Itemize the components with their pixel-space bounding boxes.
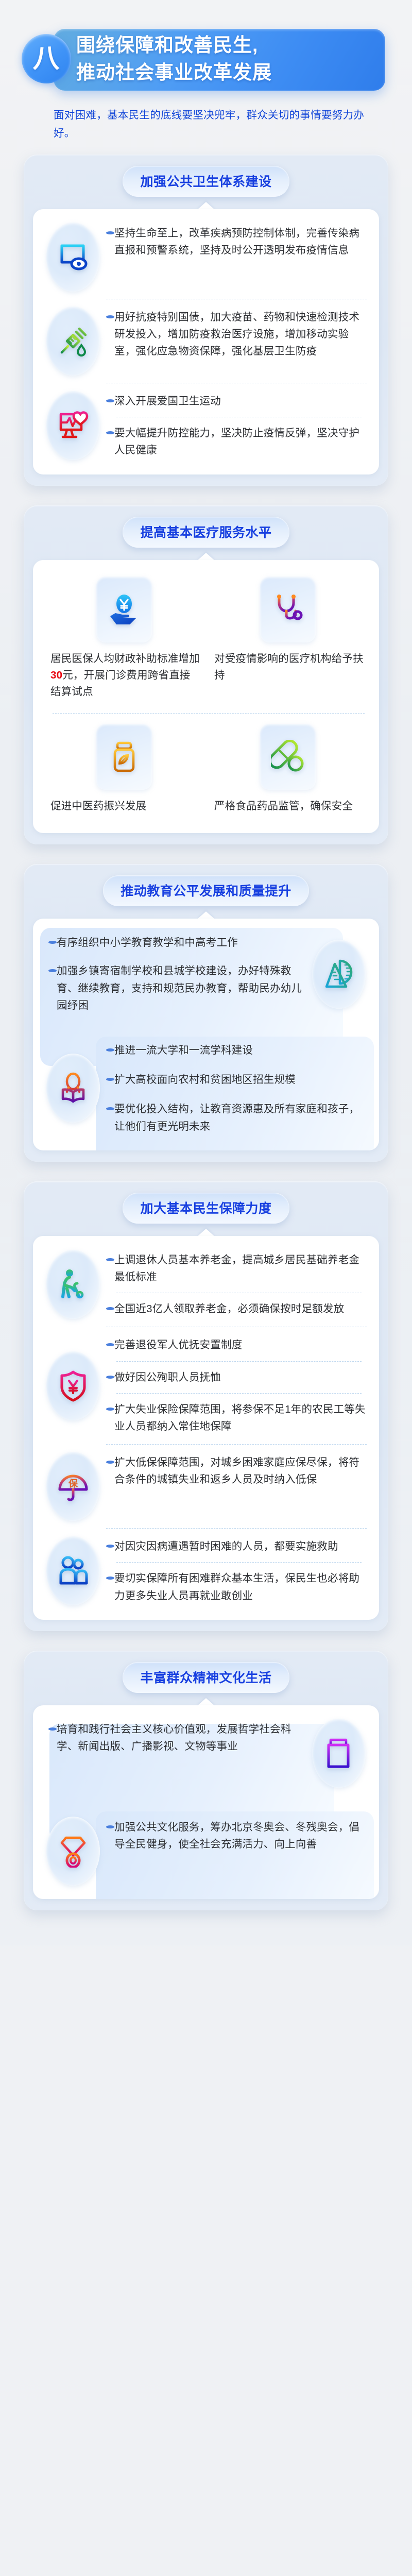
- dashed-divider: [116, 1293, 362, 1293]
- list-item-text: 全国近3亿人领取养老金，必须确保按时足额发放: [114, 1300, 367, 1317]
- row-text-slot: 用好抗疫特别国债，加大疫苗、药物和快速检测技术研发投入，增加防疫救治医疗设施，增…: [104, 307, 370, 362]
- grid-cell-caption: 严格食品药品监管，确保安全: [211, 798, 365, 815]
- bullet-dot: [106, 431, 114, 434]
- bullet-dot: [106, 1343, 114, 1346]
- caption-before: 严格食品药品监管，确保安全: [214, 800, 353, 812]
- section-body-culture: 培育和践行社会主义核心价值观，发展哲学社会科学、新闻出版、广播影视、文物等事业: [33, 1705, 379, 1899]
- bullet-dot: [48, 969, 57, 972]
- bullet-dot: [48, 1727, 57, 1731]
- page-header: 八 围绕保障和改善民生, 推动社会事业改革发展 面对困难，基本民生的底线要坚决兜…: [0, 0, 412, 155]
- bullet-dot: [106, 1825, 114, 1828]
- row-text-slot: 加强公共文化服务，筹办北京冬奥会、冬残奥会，倡导全民健身，使全社会充满活力、向上…: [104, 1817, 370, 1855]
- heart-monitor-icon: [57, 409, 90, 442]
- list-item-text: 扩大高校面向农村和贫困地区招生规模: [114, 1071, 367, 1088]
- list-item: 培育和践行社会主义核心价值观，发展哲学社会科学、新闻出版、广播影视、文物等事业: [42, 1719, 370, 1788]
- list-item-text: 完善退役军人优抚安置制度: [114, 1336, 367, 1353]
- section-body-education: 有序组织中小学教育教学和中高考工作 加强乡镇寄宿制学校和县城学校建设，办好特殊教…: [33, 919, 379, 1150]
- icon-backdrop: [312, 940, 366, 1009]
- section-body-medical-services: 居民医保人均财政补助标准增加30元，开展门诊费用跨省直接结算试点: [33, 560, 379, 834]
- section-number-text: 八: [32, 45, 60, 72]
- bullet-dot: [106, 1577, 114, 1580]
- bullet-dot: [106, 231, 114, 234]
- caption-highlight: 30: [50, 669, 62, 681]
- section-public-health: 加强公共卫生体系建设: [24, 155, 388, 486]
- section-title-education: 推动教育公平发展和质量提升: [103, 875, 309, 906]
- list-group: 完善退役军人优抚安置制度 做好因公殉职人员抚恤 扩大失业保险保障范围，将参保不足…: [42, 1334, 370, 1437]
- dashed-divider: [116, 1393, 362, 1394]
- grid-cell: 居民医保人均财政补助标准增加30元，开展门诊费用跨省直接结算试点: [42, 573, 206, 706]
- bullet-dot: [106, 1307, 114, 1310]
- icon-backdrop: [96, 724, 152, 790]
- caption-after: 元，开展门诊费用跨省直接结算试点: [50, 669, 191, 698]
- dashed-divider: [116, 1562, 362, 1563]
- list-item: 用好抗疫特别国债，加大疫苗、药物和快速检测技术研发投入，增加防疫救治医疗设施，增…: [42, 307, 370, 376]
- row-icon-slot: [42, 1250, 104, 1319]
- elderly-walker-icon: [57, 1268, 90, 1301]
- list-item-text: 要切实保障所有困难群众基本生活，保民生也必将助力更多失业人员再就业敢创业: [114, 1570, 367, 1604]
- dashed-divider: [116, 1361, 362, 1362]
- row-text-slot: 扩大低保保障范围，对城乡困难家庭应保尽保，将符合条件的城镇失业和返乡人员及时纳入…: [104, 1452, 370, 1490]
- dashed-divider: [106, 1327, 367, 1327]
- book-document-icon: [322, 1737, 355, 1770]
- infographic-page: 八 围绕保障和改善民生, 推动社会事业改革发展 面对困难，基本民生的底线要坚决兜…: [0, 0, 412, 1945]
- svg-text:保: 保: [68, 1478, 78, 1489]
- bullet-dot: [106, 1048, 114, 1052]
- icon-backdrop: [46, 1351, 100, 1420]
- section-arrow: [197, 202, 215, 210]
- icon-backdrop: [46, 1536, 100, 1605]
- list-group: 对因灾因病遭遇暂时困难的人员，都要实施救助 要切实保障所有困难群众基本生活，保民…: [42, 1536, 370, 1606]
- page-title-line2: 推动社会事业改革发展: [76, 59, 272, 87]
- grid-cell-caption: 对受疫情影响的医疗机构给予扶持: [211, 651, 365, 684]
- section-body-public-health: 坚持生命至上，改革疾病预防控制体制，完善传染病直报和预警系统，坚持及时公开透明发…: [33, 209, 379, 474]
- row-icon-slot: [42, 1054, 104, 1123]
- dashed-divider: [106, 299, 367, 299]
- two-people-icon: [57, 1554, 90, 1587]
- dashed-divider: [106, 383, 367, 383]
- list-item-text: 要优化投入结构，让教育资源惠及所有家庭和孩子，让他们有更光明未来: [114, 1100, 367, 1134]
- section-arrow: [197, 911, 215, 919]
- row-icon-slot: [42, 1351, 104, 1420]
- row-text-slot: 有序组织中小学教育教学和中高考工作 加强乡镇寄宿制学校和县城学校建设，办好特殊教…: [42, 932, 308, 1016]
- section-education: 推动教育公平发展和质量提升: [24, 864, 388, 1162]
- row-text-slot: 培育和践行社会主义核心价值观，发展哲学社会科学、新闻出版、广播影视、文物等事业: [42, 1719, 308, 1757]
- medicine-bottle-leaf-icon: [107, 740, 141, 774]
- bullet-dot: [106, 1078, 114, 1081]
- bullet-dot: [106, 1408, 114, 1411]
- section-livelihood-guarantee: 加大基本民生保障力度: [24, 1181, 388, 1631]
- section-number-badge: 八: [22, 34, 71, 83]
- row-text-slot: 推进一流大学和一流学科建设 扩大高校面向农村和贫困地区招生规模 要优化投入结构，…: [104, 1040, 370, 1137]
- icon-backdrop: [312, 1719, 366, 1788]
- icon-backdrop: [260, 724, 316, 790]
- page-title-line1: 围绕保障和改善民生,: [76, 32, 272, 59]
- grid-cell: 严格食品药品监管，确保安全: [206, 721, 370, 820]
- list-item-text: 上调退休人员基本养老金，提高城乡居民基础养老金最低标准: [114, 1251, 367, 1285]
- bullet-dot: [106, 1107, 114, 1110]
- list-group: 推进一流大学和一流学科建设 扩大高校面向农村和贫困地区招生规模 要优化投入结构，…: [42, 1040, 370, 1137]
- dashed-divider: [106, 1528, 367, 1529]
- list-item-text: 扩大失业保险保障范围，将参保不足1年的农民工等失业人员都纳入常住地保障: [114, 1401, 367, 1435]
- dashed-divider: [53, 713, 365, 714]
- bullet-dot: [106, 1258, 114, 1261]
- grid-cell-caption: 促进中医药振兴发展: [47, 798, 201, 815]
- grid-cell: 对受疫情影响的医疗机构给予扶持: [206, 573, 370, 706]
- list-item-text: 扩大低保保障范围，对城乡困难家庭应保尽保，将符合条件的城镇失业和返乡人员及时纳入…: [114, 1454, 367, 1488]
- grid-cell: 促进中医药振兴发展: [42, 721, 206, 820]
- list-item-text: 做好因公殉职人员抚恤: [114, 1369, 367, 1386]
- dashed-divider: [106, 1444, 367, 1445]
- row-text-slot: 上调退休人员基本养老金，提高城乡居民基础养老金最低标准 全国近3亿人领取养老金，…: [104, 1249, 370, 1320]
- grid-cell-caption: 居民医保人均财政补助标准增加30元，开展门诊费用跨省直接结算试点: [47, 651, 201, 701]
- stethoscope-icon: [271, 592, 305, 626]
- list-item-text: 推进一流大学和一流学科建设: [114, 1042, 367, 1059]
- row-icon-slot: [42, 1817, 104, 1886]
- icon-backdrop: [46, 391, 100, 460]
- list-item-text: 用好抗疫特别国债，加大疫苗、药物和快速检测技术研发投入，增加防疫救治医疗设施，增…: [114, 309, 367, 360]
- section-arrow: [197, 1698, 215, 1706]
- page-title: 围绕保障和改善民生, 推动社会事业改革发展: [76, 32, 272, 86]
- icon-backdrop: [96, 577, 152, 642]
- list-item-text: 要大幅提升防控能力，坚决防止疫情反弹，坚决守护人民健康: [114, 425, 367, 459]
- icon-backdrop: 保: [46, 1452, 100, 1521]
- list-group: 有序组织中小学教育教学和中高考工作 加强乡镇寄宿制学校和县城学校建设，办好特殊教…: [42, 932, 370, 1016]
- bullet-dot: [106, 1376, 114, 1379]
- caption-before: 对受疫情影响的医疗机构给予扶持: [214, 653, 364, 681]
- icon-backdrop: [46, 1250, 100, 1319]
- row-icon-slot: [308, 940, 370, 1009]
- section-title-public-health: 加强公共卫生体系建设: [123, 166, 289, 197]
- header-lead-text: 面对困难，基本民生的底线要坚决兜牢，群众关切的事情要努力办好。: [54, 106, 375, 143]
- row-icon-slot: [42, 307, 104, 376]
- umbrella-bao-icon: 保: [57, 1470, 90, 1503]
- icon-backdrop: [46, 1054, 100, 1123]
- row-icon-slot: 保: [42, 1452, 104, 1521]
- section-body-livelihood-guarantee: 上调退休人员基本养老金，提高城乡居民基础养老金最低标准 全国近3亿人领取养老金，…: [33, 1236, 379, 1620]
- bullet-dot: [106, 315, 114, 318]
- icon-backdrop: [46, 223, 100, 292]
- caption-before: 居民医保人均财政补助标准增加: [50, 653, 200, 665]
- yuan-coin-hand-icon: [107, 592, 141, 626]
- section-title-culture: 丰富群众精神文化生活: [123, 1662, 289, 1693]
- row-icon-slot: [42, 391, 104, 460]
- list-item-text: 加强公共文化服务，筹办北京冬奥会、冬残奥会，倡导全民健身，使全社会充满活力、向上…: [114, 1819, 367, 1853]
- shield-yuan-icon: [57, 1369, 90, 1402]
- caption-before: 促进中医药振兴发展: [50, 800, 146, 812]
- icon-backdrop: [46, 307, 100, 376]
- capsule-pill-icon: [271, 740, 305, 774]
- list-group: 上调退休人员基本养老金，提高城乡居民基础养老金最低标准 全国近3亿人领取养老金，…: [42, 1249, 370, 1320]
- row-text-slot: 对因灾因病遭遇暂时困难的人员，都要实施救助 要切实保障所有困难群众基本生活，保民…: [104, 1536, 370, 1606]
- icon-backdrop: [260, 577, 316, 642]
- section-arrow: [197, 553, 215, 561]
- bullet-dot: [106, 1461, 114, 1464]
- row-icon-slot: [42, 223, 104, 292]
- dashed-divider: [116, 417, 362, 417]
- row-text-slot: 完善退役军人优抚安置制度 做好因公殉职人员抚恤 扩大失业保险保障范围，将参保不足…: [104, 1334, 370, 1437]
- list-item-text: 培育和践行社会主义核心价值观，发展哲学社会科学、新闻出版、广播影视、文物等事业: [57, 1721, 305, 1755]
- row-text-slot: 深入开展爱国卫生运动 要大幅提升防控能力，坚决防止疫情反弹，坚决守护人民健康: [104, 391, 370, 461]
- monitor-chart-eye-icon: [57, 241, 90, 274]
- bullet-dot: [48, 941, 57, 944]
- bullet-dot: [106, 1545, 114, 1548]
- section-culture: 丰富群众精神文化生活: [24, 1651, 388, 1910]
- icon-backdrop: [46, 1817, 100, 1886]
- ruler-protractor-icon: [322, 958, 355, 991]
- list-item-text: 深入开展爱国卫生运动: [114, 393, 367, 410]
- list-item: 加强公共文化服务，筹办北京冬奥会、冬残奥会，倡导全民健身，使全社会充满活力、向上…: [42, 1817, 370, 1886]
- section-medical-services: 提高基本医疗服务水平: [24, 505, 388, 845]
- list-item-text: 加强乡镇寄宿制学校和县城学校建设，办好特殊教育、继续教育，支持和规范民办教育，帮…: [57, 962, 305, 1014]
- section-title-livelihood-guarantee: 加大基本民生保障力度: [123, 1193, 289, 1224]
- list-item: 深入开展爱国卫生运动 要大幅提升防控能力，坚决防止疫情反弹，坚决守护人民健康: [42, 391, 370, 461]
- list-item-text: 有序组织中小学教育教学和中高考工作: [57, 934, 305, 951]
- syringe-vaccine-icon: [57, 325, 90, 358]
- bullet-dot: [106, 399, 114, 402]
- row-text-slot: 坚持生命至上，改革疾病预防控制体制，完善传染病直报和预警系统，坚持及时公开透明发…: [104, 223, 370, 261]
- row-icon-slot: [308, 1719, 370, 1788]
- list-item: 坚持生命至上，改革疾病预防控制体制，完善传染病直报和预警系统，坚持及时公开透明发…: [42, 223, 370, 292]
- list-item-text: 对因灾因病遭遇暂时困难的人员，都要实施救助: [114, 1538, 367, 1555]
- section-title-medical-services: 提高基本医疗服务水平: [123, 517, 289, 548]
- medal-icon: [57, 1835, 90, 1868]
- row-icon-slot: [42, 1536, 104, 1605]
- section-arrow: [197, 1229, 215, 1236]
- list-item: 保 扩大低保保障范围，对城乡困难家庭应保尽保，将符合条件的城镇失业和返乡人员及时…: [42, 1452, 370, 1521]
- list-item-text: 坚持生命至上，改革疾病预防控制体制，完善传染病直报和预警系统，坚持及时公开透明发…: [114, 225, 367, 259]
- student-book-icon: [57, 1072, 90, 1105]
